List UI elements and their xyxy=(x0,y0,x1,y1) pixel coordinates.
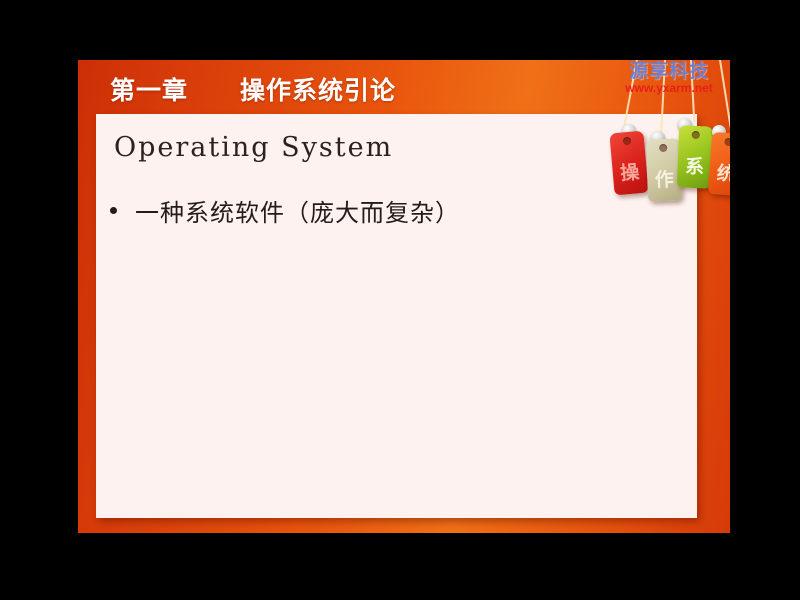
tag-hole-icon xyxy=(724,138,730,147)
slide-content-panel: Operating System 一种系统软件（庞大而复杂） xyxy=(96,114,697,518)
bullet-dot-icon xyxy=(110,207,117,214)
video-frame: 第一章 操作系统引论 Operating System 一种系统软件（庞大而复杂… xyxy=(0,0,800,600)
bullet-list-item: 一种系统软件（庞大而复杂） xyxy=(110,193,460,228)
presentation-slide: 第一章 操作系统引论 Operating System 一种系统软件（庞大而复杂… xyxy=(78,60,730,533)
slide-heading-english: Operating System xyxy=(114,132,393,163)
slide-title: 第一章 操作系统引论 xyxy=(110,71,396,107)
tag-character: 统 xyxy=(709,158,730,187)
bullet-item-label: 一种系统软件（庞大而复杂） xyxy=(135,193,460,228)
tag-body: 统 xyxy=(708,132,730,196)
slide-header-bar: 第一章 操作系统引论 xyxy=(78,60,730,114)
tag-ring-icon xyxy=(712,125,726,139)
